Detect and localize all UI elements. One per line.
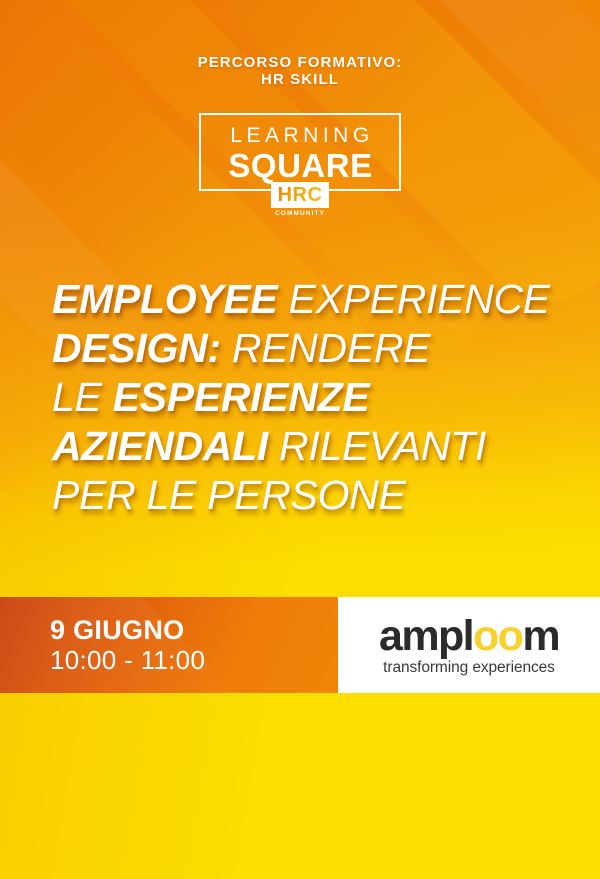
kicker-line-2: HR SKILL xyxy=(0,71,600,88)
sponsor-name-part2: m xyxy=(522,612,559,660)
title-segment-bold: DESIGN: xyxy=(52,325,221,371)
event-date-band: 9 GIUGNO 10:00 - 11:00 xyxy=(0,597,338,693)
sponsor-logo-wordmark: amploom xyxy=(338,614,600,659)
title-segment: LE xyxy=(52,374,113,420)
title-segment-bold: ESPERIENZE xyxy=(113,374,370,420)
sponsor-panel: amploom transforming experiences xyxy=(338,597,600,693)
sponsor-name-part1: ampl xyxy=(379,612,473,660)
kicker-line-1: PERCORSO FORMATIVO: xyxy=(0,54,600,71)
learning-square-logo: LEARNING SQUARE xyxy=(199,113,401,191)
hrc-badge-letters: HRC xyxy=(278,185,323,205)
page-title-line: EMPLOYEE EXPERIENCE xyxy=(52,275,572,324)
title-segment-bold: EMPLOYEE xyxy=(52,276,277,322)
page-title-line: LE ESPERIENZE xyxy=(52,373,572,422)
sponsor-tagline: transforming experiences xyxy=(338,659,600,677)
page-title-line: DESIGN: RENDERE xyxy=(52,324,572,373)
page-title: EMPLOYEE EXPERIENCEDESIGN: RENDERELE ESP… xyxy=(52,275,572,520)
event-date: 9 GIUGNO xyxy=(50,615,184,645)
event-time: 10:00 - 11:00 xyxy=(50,645,205,675)
title-segment-bold: AZIENDALI xyxy=(52,423,268,469)
page-title-line: AZIENDALI RILEVANTI xyxy=(52,422,572,471)
title-segment: RENDERE xyxy=(221,325,430,371)
poster-canvas: PERCORSO FORMATIVO: HR SKILL LEARNING SQ… xyxy=(0,0,600,879)
course-kicker: PERCORSO FORMATIVO: HR SKILL xyxy=(0,54,600,88)
title-segment: RILEVANTI xyxy=(268,423,486,469)
hrc-badge: HRC xyxy=(271,182,329,208)
logo-word-learning: LEARNING xyxy=(201,124,399,148)
hrc-badge-subtitle: COMMUNITY xyxy=(261,210,339,218)
title-segment: EXPERIENCE xyxy=(277,276,549,322)
sponsor-name-oo: oo xyxy=(473,612,522,660)
title-segment: PER LE PERSONE xyxy=(52,472,406,518)
page-title-line: PER LE PERSONE xyxy=(52,471,572,520)
logo-word-square: SQUARE xyxy=(201,148,399,184)
